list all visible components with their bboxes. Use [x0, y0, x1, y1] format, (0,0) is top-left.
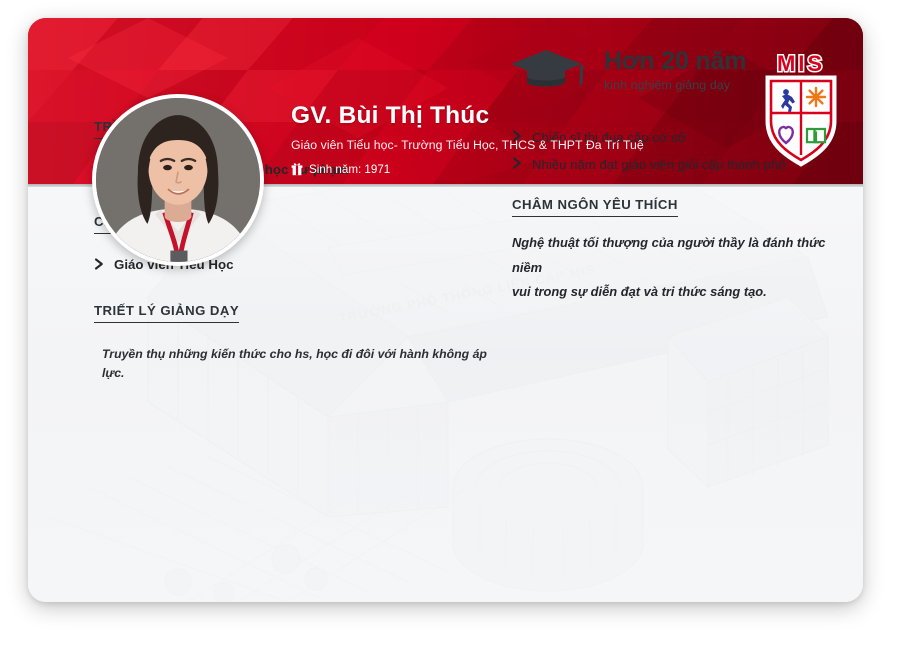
experience-headline: Hơn 20 năm	[604, 48, 746, 74]
teacher-role: Giáo viên Tiểu học- Trường Tiểu Học, THC…	[291, 138, 644, 152]
section-heading-triet-ly: TRIẾT LÝ GIẢNG DẠY	[94, 303, 239, 323]
header-identity: GV. Bùi Thị Thúc Giáo viên Tiểu học- Trư…	[291, 102, 644, 176]
gift-icon	[291, 162, 303, 176]
motto-line: vui trong sự diễn đạt và tri thức sáng t…	[512, 280, 847, 305]
motto-line: Nghệ thuật tối thượng của người thầy là …	[512, 231, 847, 280]
chevron-right-icon	[94, 258, 105, 270]
section-triet-ly: TRIẾT LÝ GIẢNG DẠY Truyền thụ những kiến…	[94, 302, 494, 383]
open-book-icon	[807, 129, 825, 142]
graduation-cap-icon	[512, 46, 588, 94]
mis-logo: MIS MIS	[755, 51, 847, 169]
avatar	[92, 94, 264, 266]
starburst-center	[814, 95, 819, 100]
birth-year-row: Sinh năm: 1971	[291, 162, 644, 176]
teacher-profile-card: TRƯỜNG PHỔ THÔNG LIÊN CẤP MIS	[28, 18, 863, 602]
section-heading-cham-ngon: CHÂM NGÔN YÊU THÍCH	[512, 197, 678, 217]
experience-subtext: kinh nghiệm giảng dạy	[604, 78, 746, 92]
section-cham-ngon: CHÂM NGÔN YÊU THÍCH Nghệ thuật tối thượn…	[512, 196, 847, 305]
mis-shield-logo: MIS MIS	[755, 51, 847, 169]
mis-wordmark: MIS	[777, 51, 825, 76]
motto-text: Nghệ thuật tối thượng của người thầy là …	[512, 231, 847, 305]
birth-year-text: Sinh năm: 1971	[309, 163, 390, 176]
experience-text: Hơn 20 năm kinh nghiệm giảng dạy	[604, 48, 746, 92]
philosophy-text: Truyền thụ những kiến thức cho hs, học đ…	[102, 345, 494, 383]
teacher-name: GV. Bùi Thị Thúc	[291, 102, 644, 129]
teacher-portrait-illustration	[96, 98, 260, 262]
